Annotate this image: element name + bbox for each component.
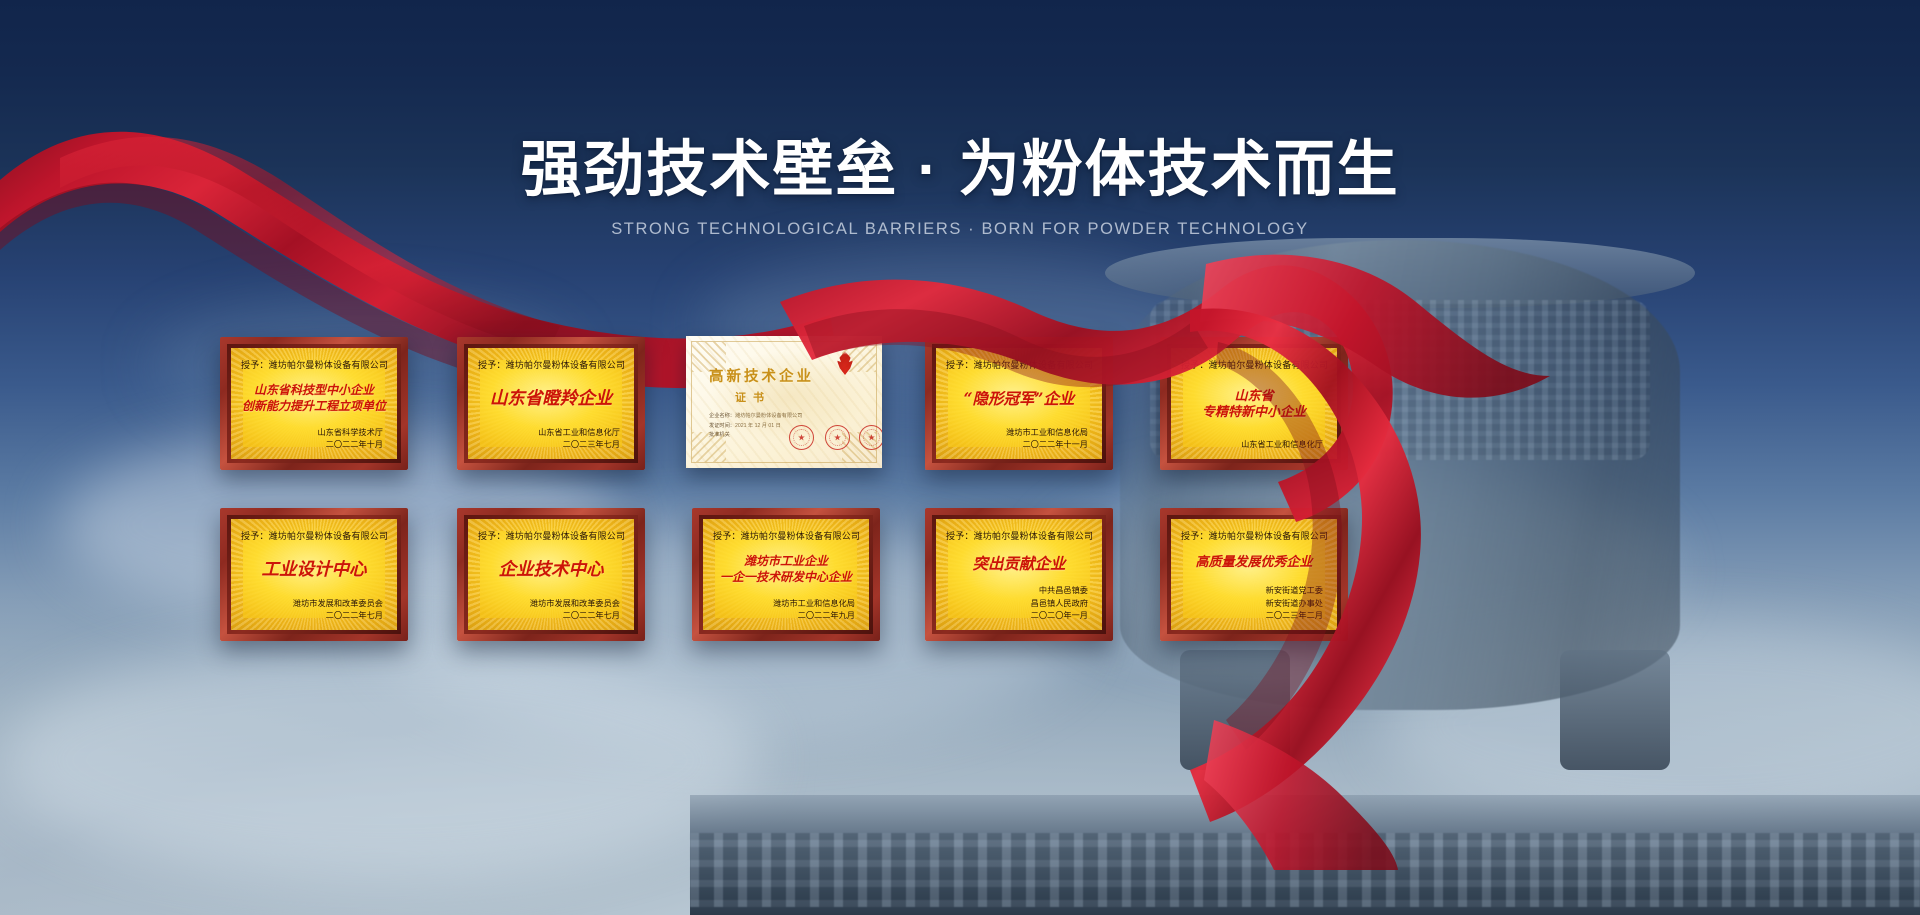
plaque-title: 山东省瞪羚企业 [478,371,624,427]
official-seal-icon [859,425,882,450]
plaque-footer: 中共昌邑镇委 昌邑镇人民政府 二〇二〇年一月 [946,585,1092,623]
plaque-title-line: “隐形冠军”企业 [964,389,1075,409]
plaque-frame: 授予：潍坊帕尔曼粉体设备有限公司 山东省科技型中小企业 创新能力提升工程立项单位… [220,337,408,470]
plaque-title-line: 高质量发展优秀企业 [1195,555,1312,572]
plaque-date: 二〇二二年九月 [713,610,855,623]
plaque-title: 山东省 专精特新中小企业 [1181,371,1327,439]
plaque-date: 二〇二三年二月 [1181,610,1323,623]
high-tech-enterprise-certificate[interactable]: 高新技术企业 证书 企业名称：潍坊帕尔曼粉体设备有限公司 发证时间：2021 年… [686,336,882,468]
plaque-issuer: 山东省工业和信息化厅 [478,427,620,440]
plaque-frame-inner: 授予：潍坊帕尔曼粉体设备有限公司 山东省科技型中小企业 创新能力提升工程立项单位… [227,344,401,463]
plaque-frame: 授予：潍坊帕尔曼粉体设备有限公司 突出贡献企业 中共昌邑镇委 昌邑镇人民政府 二… [925,508,1113,641]
plaque-frame-inner: 授予：潍坊帕尔曼粉体设备有限公司 高质量发展优秀企业 新安街道党工委 新安街道办… [1167,515,1341,634]
plaque-item[interactable]: 授予：潍坊帕尔曼粉体设备有限公司 突出贡献企业 中共昌邑镇委 昌邑镇人民政府 二… [925,508,1113,641]
plaque-footer: 山东省工业和信息化厅 二〇二三年七月 [478,427,624,452]
stone-pedestal-carving [690,833,1920,907]
plaque-frame: 授予：潍坊帕尔曼粉体设备有限公司 山东省瞪羚企业 山东省工业和信息化厅 二〇二三… [457,337,645,470]
plaque-title: “隐形冠军”企业 [946,371,1092,427]
plaque-footer: 山东省科学技术厅 二〇二二年十月 [241,427,387,452]
plaque-date: 二〇二〇年一月 [946,610,1088,623]
plaque-face: 授予：潍坊帕尔曼粉体设备有限公司 “隐形冠军”企业 潍坊市工业和信息化局 二〇二… [936,348,1102,459]
plaque-date: 二〇二二年七月 [478,610,620,623]
cloud [0,640,760,880]
plaque-date: 二〇二二年十月 [241,439,383,452]
page-title: 强劲技术壁垒 · 为粉体技术而生 [0,134,1920,204]
plaque-face: 授予：潍坊帕尔曼粉体设备有限公司 潍坊市工业企业 一企一技术研发中心企业 潍坊市… [703,519,869,630]
cert-org-label: 批准机关 [709,432,730,438]
plaque-issuer: 新安街道党工委 新安街道办事处 [1181,585,1323,610]
plaque-item[interactable]: 授予：潍坊帕尔曼粉体设备有限公司 山东省瞪羚企业 山东省工业和信息化厅 二〇二三… [457,337,645,470]
cert-name-label: 企业名称： [709,413,735,419]
plaque-footer: 潍坊市发展和改革委员会 二〇二二年七月 [478,598,624,623]
plaque-award-to: 授予：潍坊帕尔曼粉体设备有限公司 [1181,529,1327,542]
plaque-item[interactable]: 授予：潍坊帕尔曼粉体设备有限公司 工业设计中心 潍坊市发展和改革委员会 二〇二二… [220,508,408,641]
plaque-issuer: 山东省工业和信息化厅 [1181,439,1323,452]
plaque-frame: 授予：潍坊帕尔曼粉体设备有限公司 企业技术中心 潍坊市发展和改革委员会 二〇二二… [457,508,645,641]
plaque-face: 授予：潍坊帕尔曼粉体设备有限公司 山东省科技型中小企业 创新能力提升工程立项单位… [231,348,397,459]
plaque-title-line: 创新能力提升工程立项单位 [242,399,386,414]
plaque-face: 授予：潍坊帕尔曼粉体设备有限公司 山东省 专精特新中小企业 山东省工业和信息化厅 [1171,348,1337,459]
plaque-face: 授予：潍坊帕尔曼粉体设备有限公司 高质量发展优秀企业 新安街道党工委 新安街道办… [1171,519,1337,630]
plaque-date: 二〇二三年七月 [478,439,620,452]
certificate-gallery: 授予：潍坊帕尔曼粉体设备有限公司 山东省科技型中小企业 创新能力提升工程立项单位… [0,330,1920,670]
plaque-award-to: 授予：潍坊帕尔曼粉体设备有限公司 [946,358,1092,371]
certificate-subtitle: 证书 [709,389,863,405]
plaque-date: 二〇二二年十一月 [946,439,1088,452]
plaque-title: 潍坊市工业企业 一企一技术研发中心企业 [713,542,859,598]
headline-block: 强劲技术壁垒 · 为粉体技术而生 STRONG TECHNOLOGICAL BA… [0,134,1920,239]
plaque-date: 二〇二二年七月 [241,610,383,623]
official-seal-icon [789,425,814,450]
plaque-face: 授予：潍坊帕尔曼粉体设备有限公司 山东省瞪羚企业 山东省工业和信息化厅 二〇二三… [468,348,634,459]
plaque-footer: 潍坊市发展和改革委员会 二〇二二年七月 [241,598,387,623]
plaque-title-line: 一企一技术研发中心企业 [720,570,852,585]
plaque-frame-inner: 授予：潍坊帕尔曼粉体设备有限公司 突出贡献企业 中共昌邑镇委 昌邑镇人民政府 二… [932,515,1106,634]
plaque-issuer: 中共昌邑镇委 昌邑镇人民政府 [946,585,1088,610]
plaque-issuer: 潍坊市发展和改革委员会 [478,598,620,611]
plaque-face: 授予：潍坊帕尔曼粉体设备有限公司 突出贡献企业 中共昌邑镇委 昌邑镇人民政府 二… [936,519,1102,630]
plaque-footer: 潍坊市工业和信息化局 二〇二二年九月 [713,598,859,623]
plaque-frame: 授予：潍坊帕尔曼粉体设备有限公司 山东省 专精特新中小企业 山东省工业和信息化厅 [1160,337,1348,470]
plaque-item[interactable]: 授予：潍坊帕尔曼粉体设备有限公司 企业技术中心 潍坊市发展和改革委员会 二〇二二… [457,508,645,641]
plaque-frame-inner: 授予：潍坊帕尔曼粉体设备有限公司 工业设计中心 潍坊市发展和改革委员会 二〇二二… [227,515,401,634]
plaque-title: 企业技术中心 [478,542,624,598]
plaque-award-to: 授予：潍坊帕尔曼粉体设备有限公司 [478,358,624,371]
plaque-award-to: 授予：潍坊帕尔曼粉体设备有限公司 [1181,358,1327,371]
plaque-item[interactable]: 授予：潍坊帕尔曼粉体设备有限公司 高质量发展优秀企业 新安街道党工委 新安街道办… [1160,508,1348,641]
plaque-title: 工业设计中心 [241,542,387,598]
plaque-award-to: 授予：潍坊帕尔曼粉体设备有限公司 [713,529,859,542]
plaque-issuer: 潍坊市发展和改革委员会 [241,598,383,611]
plaque-frame-inner: 授予：潍坊帕尔曼粉体设备有限公司 潍坊市工业企业 一企一技术研发中心企业 潍坊市… [699,515,873,634]
plaque-footer: 新安街道党工委 新安街道办事处 二〇二三年二月 [1181,585,1327,623]
plaque-frame: 授予：潍坊帕尔曼粉体设备有限公司 工业设计中心 潍坊市发展和改革委员会 二〇二二… [220,508,408,641]
plaque-award-to: 授予：潍坊帕尔曼粉体设备有限公司 [478,529,624,542]
plaque-title-line: 山东省科技型中小企业 [254,383,374,398]
plaque-item[interactable]: 授予：潍坊帕尔曼粉体设备有限公司 山东省科技型中小企业 创新能力提升工程立项单位… [220,337,408,470]
plaque-frame-inner: 授予：潍坊帕尔曼粉体设备有限公司 山东省 专精特新中小企业 山东省工业和信息化厅 [1167,344,1341,463]
plaque-title: 突出贡献企业 [946,542,1092,585]
plaque-issuer: 山东省科学技术厅 [241,427,383,440]
plaque-title: 高质量发展优秀企业 [1181,542,1327,585]
plaque-item[interactable]: 授予：潍坊帕尔曼粉体设备有限公司 “隐形冠军”企业 潍坊市工业和信息化局 二〇二… [925,337,1113,470]
plaque-title: 山东省科技型中小企业 创新能力提升工程立项单位 [241,371,387,427]
plaque-frame-inner: 授予：潍坊帕尔曼粉体设备有限公司 企业技术中心 潍坊市发展和改革委员会 二〇二二… [464,515,638,634]
plaque-award-to: 授予：潍坊帕尔曼粉体设备有限公司 [946,529,1092,542]
certificate-content: 高新技术企业 证书 企业名称：潍坊帕尔曼粉体设备有限公司 发证时间：2021 年… [693,343,875,461]
plaque-footer: 山东省工业和信息化厅 [1181,439,1327,452]
plaque-frame: 授予：潍坊帕尔曼粉体设备有限公司 “隐形冠军”企业 潍坊市工业和信息化局 二〇二… [925,337,1113,470]
plaque-award-to: 授予：潍坊帕尔曼粉体设备有限公司 [241,529,387,542]
plaque-title-line: 山东省 [1234,389,1273,406]
plaque-frame: 授予：潍坊帕尔曼粉体设备有限公司 潍坊市工业企业 一企一技术研发中心企业 潍坊市… [692,508,880,641]
plaque-frame: 授予：潍坊帕尔曼粉体设备有限公司 高质量发展优秀企业 新安街道党工委 新安街道办… [1160,508,1348,641]
plaque-title-line: 企业技术中心 [499,559,604,581]
plaque-footer: 潍坊市工业和信息化局 二〇二二年十一月 [946,427,1092,452]
plaque-issuer: 潍坊市工业和信息化局 [946,427,1088,440]
plaque-face: 授予：潍坊帕尔曼粉体设备有限公司 工业设计中心 潍坊市发展和改革委员会 二〇二二… [231,519,397,630]
plaque-frame-inner: 授予：潍坊帕尔曼粉体设备有限公司 山东省瞪羚企业 山东省工业和信息化厅 二〇二三… [464,344,638,463]
plaque-frame-inner: 授予：潍坊帕尔曼粉体设备有限公司 “隐形冠军”企业 潍坊市工业和信息化局 二〇二… [932,344,1106,463]
plaque-title-line: 突出贡献企业 [972,554,1065,574]
banner-stage: 强劲技术壁垒 · 为粉体技术而生 STRONG TECHNOLOGICAL BA… [0,0,1920,915]
plaque-title-line: 潍坊市工业企业 [744,554,828,569]
official-seal-icon [825,425,850,450]
plaque-item[interactable]: 授予：潍坊帕尔曼粉体设备有限公司 山东省 专精特新中小企业 山东省工业和信息化厅 [1160,337,1348,470]
plaque-issuer: 潍坊市工业和信息化局 [713,598,855,611]
cert-date-label: 发证时间： [709,423,735,429]
cert-date-value: 2021 年 12 月 01 日 [735,423,781,429]
plaque-title-line: 工业设计中心 [262,559,367,581]
plaque-face: 授予：潍坊帕尔曼粉体设备有限公司 企业技术中心 潍坊市发展和改革委员会 二〇二二… [468,519,634,630]
page-subtitle: STRONG TECHNOLOGICAL BARRIERS · BORN FOR… [0,220,1920,239]
plaque-title-line: 专精特新中小企业 [1202,405,1306,422]
plaque-title-line: 山东省瞪羚企业 [490,388,613,410]
plaque-award-to: 授予：潍坊帕尔曼粉体设备有限公司 [241,358,387,371]
plaque-item[interactable]: 授予：潍坊帕尔曼粉体设备有限公司 潍坊市工业企业 一企一技术研发中心企业 潍坊市… [692,508,880,641]
cert-name-value: 潍坊帕尔曼粉体设备有限公司 [735,413,802,419]
